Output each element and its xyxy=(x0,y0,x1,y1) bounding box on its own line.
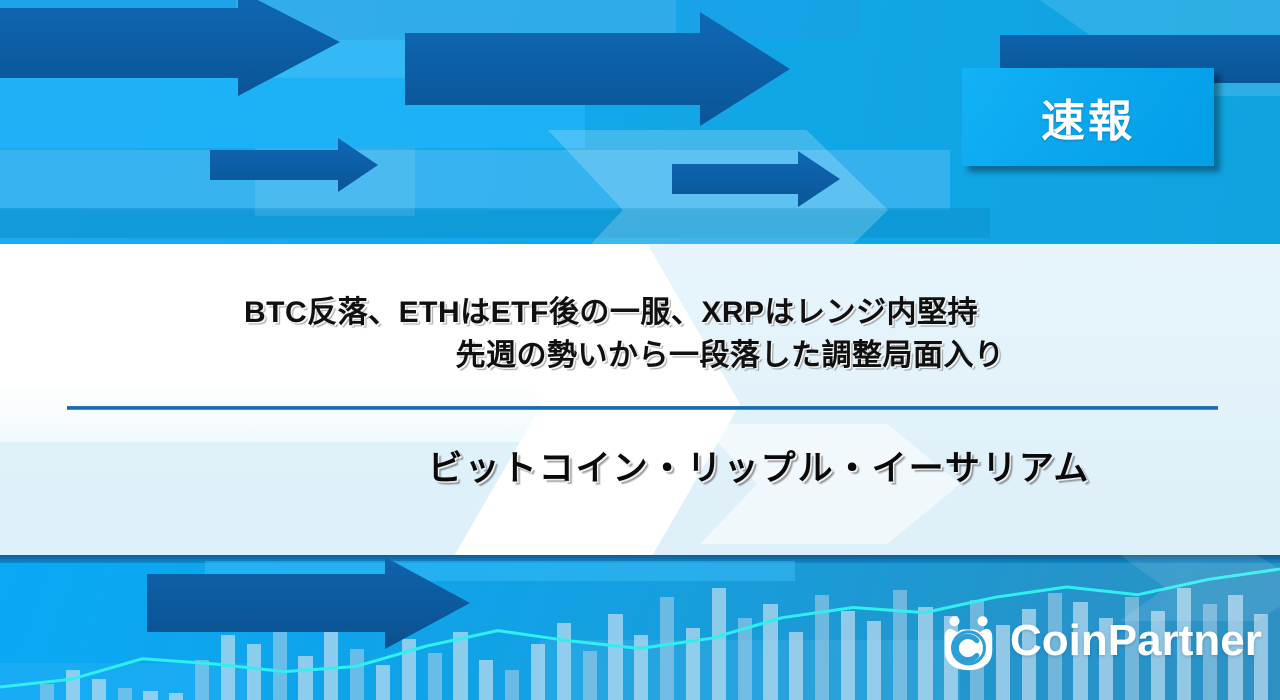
arrow-top-wide-icon xyxy=(405,12,790,126)
headline-divider xyxy=(67,406,1218,410)
arrow-mid-small-icon xyxy=(210,138,378,192)
arrow-mid-right-icon xyxy=(672,151,840,207)
arrow-top-large-icon xyxy=(0,0,340,96)
headline-block: BTC反落、ETHはETF後の一服、XRPはレンジ内堅持 先週の勢いから一段落し… xyxy=(0,292,1280,377)
headline-line-2: 先週の勢いから一段落した調整局面入り xyxy=(0,335,1280,378)
badge-label: 速報 xyxy=(1041,85,1135,149)
brand-logo: CoinPartner xyxy=(938,612,1262,674)
thumbnail-canvas: 速報 BTC反落、ETHはETF後の一服、XRPはレンジ内堅持 先週の勢いから一… xyxy=(0,0,1280,700)
headline-line-1: BTC反落、ETHはETF後の一服、XRPはレンジ内堅持 xyxy=(0,292,1280,335)
top-banner: 速報 xyxy=(0,0,1280,244)
coinpartner-cat-logo-icon xyxy=(938,612,1000,674)
breaking-news-badge: 速報 xyxy=(962,68,1214,166)
middle-content-band xyxy=(0,244,1280,555)
subtitle-text: ビットコイン・リップル・イーサリアム xyxy=(0,440,1280,491)
brand-name: CoinPartner xyxy=(1010,619,1262,667)
arrow-bottom-large-icon xyxy=(147,557,470,649)
